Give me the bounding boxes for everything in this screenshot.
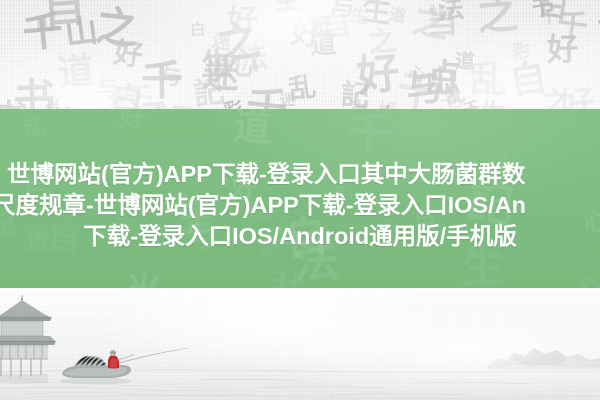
ink-wash-landscape bbox=[0, 288, 600, 400]
calligraphy-paper-header: 千自乱千山道当当好点記好生书与心白之白之道当迷乱千自心生記点記生道与山好記生迷道… bbox=[0, 0, 600, 109]
headline-line-1: 世博网站(官方)APP下载-登录入口其中大肠菌群数 bbox=[7, 159, 600, 190]
headline-green-band: 記法当白記山千自乱道記心乱生自道心好当好与好生道自点 世博网站(官方)APP下载… bbox=[0, 109, 600, 288]
promo-banner: 千自乱千山道当当好点記好生书与心白之白之道当迷乱千自心生記点記生道与山好記生迷道… bbox=[0, 0, 600, 400]
landscape-illustration bbox=[0, 288, 600, 400]
headline-line-2: 尺度规章-世博网站(官方)APP下载-登录入口IOS/An bbox=[0, 190, 592, 221]
paper-sheen-overlay bbox=[0, 0, 600, 109]
headline-line-3: 下载-登录入口IOS/Android通用版/手机版 bbox=[0, 221, 600, 252]
